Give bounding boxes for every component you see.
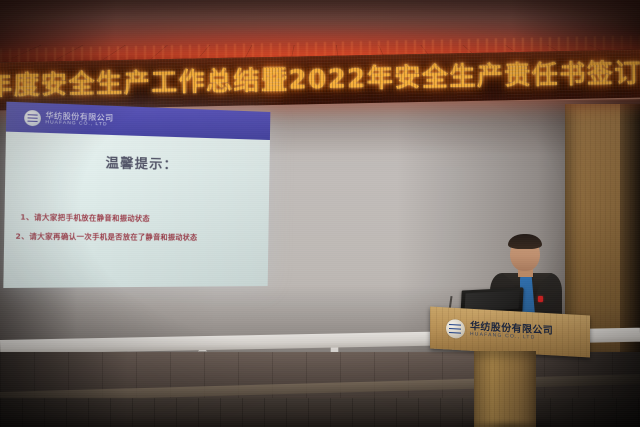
podium: 华纺股份有限公司 HUAFANG CO., LTD bbox=[430, 311, 590, 427]
slide-bullet-list: 1、请大家把手机放在静音和振动状态 2、请大家再确认一次手机是否放在了静音和振动… bbox=[20, 211, 259, 250]
podium-floor-shadow bbox=[458, 421, 558, 427]
slide-title: 温馨提示： bbox=[5, 149, 269, 175]
slide-bullet-1: 1、请大家把手机放在静音和振动状态 bbox=[20, 211, 259, 224]
presentation-slide: 华纺股份有限公司 HUAFANG CO., LTD 温馨提示： 1、请大家把手机… bbox=[3, 102, 270, 288]
projection-screen: 华纺股份有限公司 HUAFANG CO., LTD 温馨提示： 1、请大家把手机… bbox=[3, 102, 270, 288]
slide-bullet-2: 2、请大家再确认一次手机是否放在了静音和振动状态 bbox=[15, 230, 258, 242]
speaker-hair bbox=[508, 234, 542, 249]
podium-pedestal bbox=[474, 351, 536, 427]
podium-logo-text: 华纺股份有限公司 HUAFANG CO., LTD bbox=[470, 321, 553, 342]
slide-logo-text: 华纺股份有限公司 HUAFANG CO., LTD bbox=[45, 111, 113, 127]
huafang-logo-icon bbox=[446, 318, 465, 338]
slide-company-logo: 华纺股份有限公司 HUAFANG CO., LTD bbox=[24, 109, 113, 128]
conference-room-photo: 年度安全生产工作总结暨2022年安全生产责任书签订会议 华纺股份有限公司 HUA… bbox=[0, 0, 640, 427]
slide-logo-en: HUAFANG CO., LTD bbox=[45, 120, 113, 127]
party-emblem-badge bbox=[538, 296, 543, 302]
huafang-logo-icon bbox=[24, 109, 41, 126]
slide-body: 温馨提示： 1、请大家把手机放在静音和振动状态 2、请大家再确认一次手机是否放在… bbox=[3, 132, 270, 288]
wall-shadow-right bbox=[620, 104, 640, 358]
